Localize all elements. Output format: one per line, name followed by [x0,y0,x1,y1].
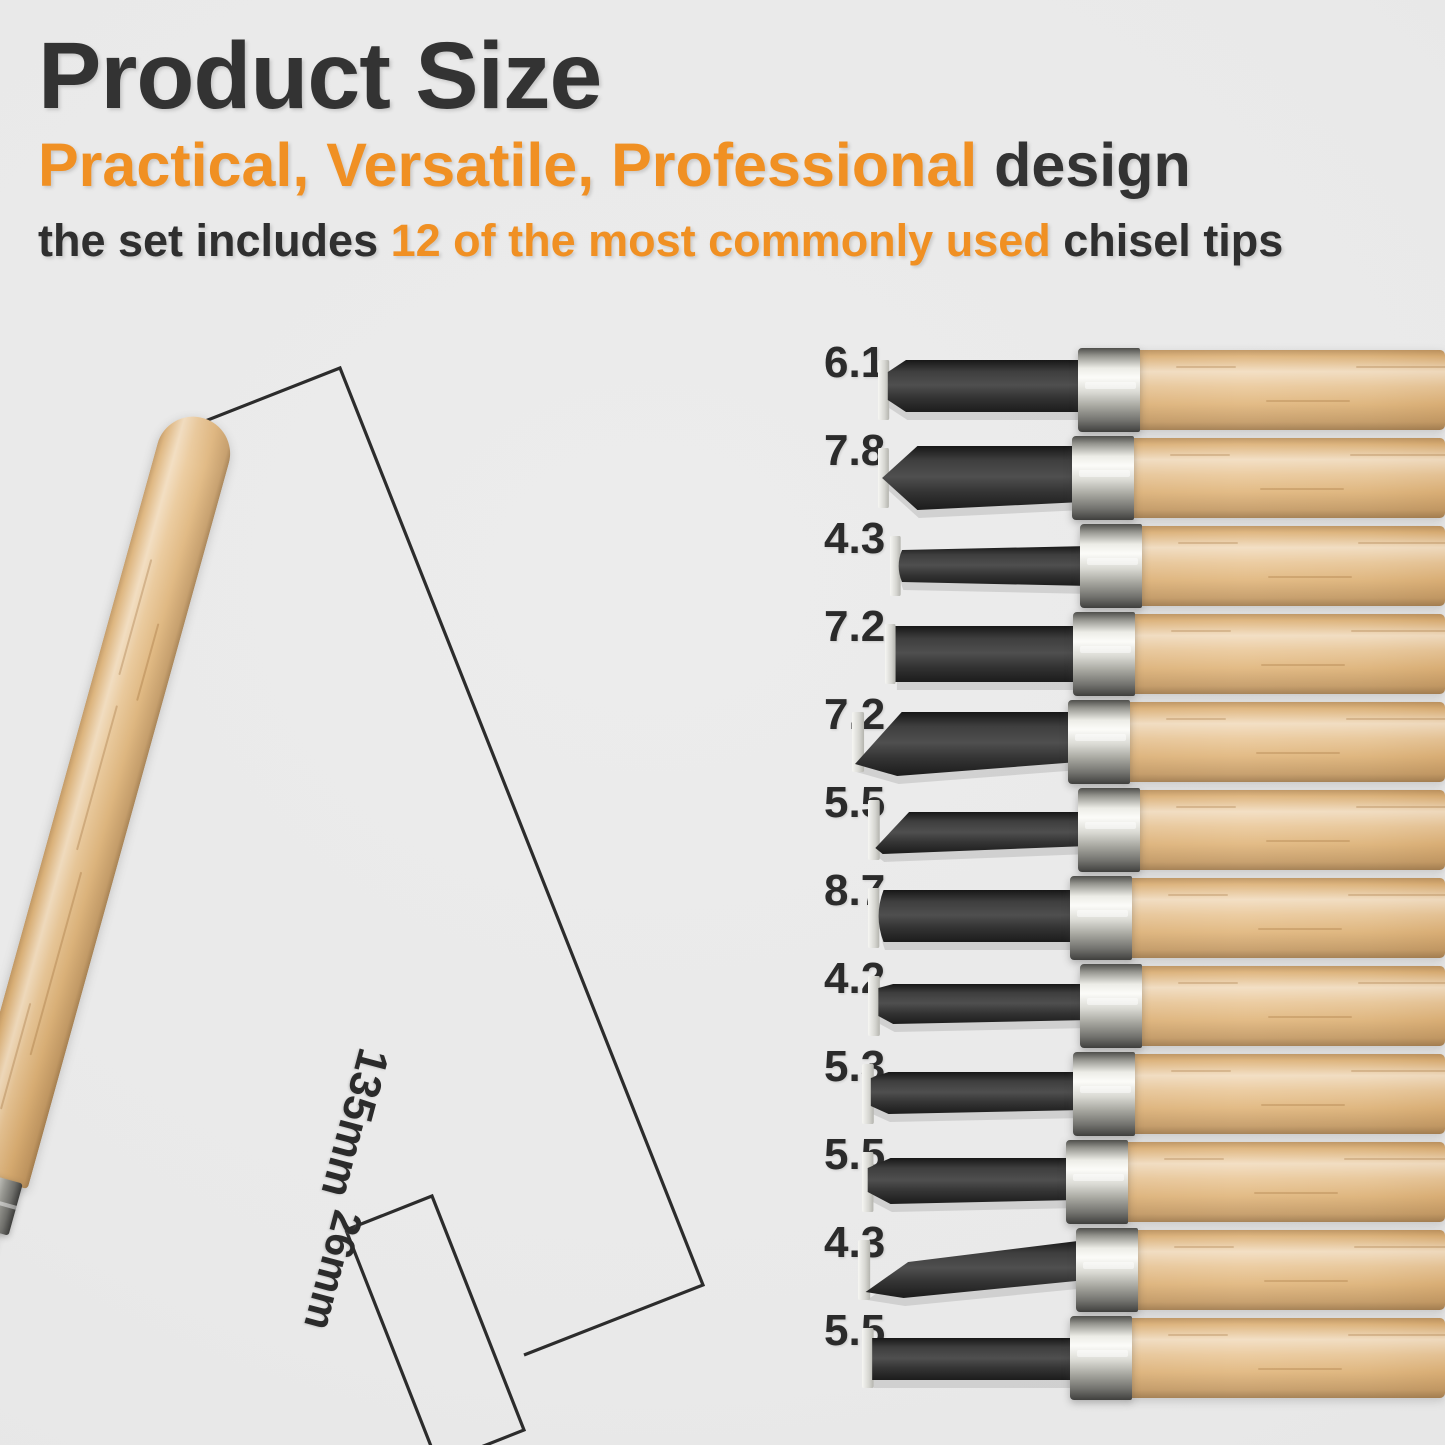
blade-body [878,984,1090,1024]
blade-cutting-edge [878,360,889,420]
blade-cutting-edge [868,800,880,860]
chisel-ferrule [1070,876,1132,960]
chisel-size-list: 6.17.84.37.27.25.58.74.25.35.54.35.5 [790,330,1445,1445]
chisel-row: 5.5 [790,1306,1445,1410]
chisel-handle [1130,438,1445,518]
tagline-highlight: 12 of the most commonly used [391,215,1051,266]
tagline-pre: the set includes [38,215,391,266]
blade-body [896,626,1083,682]
chisel-ferrule [1073,1052,1135,1136]
blade-body [872,1338,1080,1380]
dimension-diagram: 135mm 26mm [0,330,790,1445]
blade-cutting-edge [868,888,879,948]
chisel-ferrule [1070,1316,1132,1400]
chisel-ferrule [1080,964,1142,1048]
blade-body [871,1072,1083,1114]
blade-body [868,1158,1076,1204]
chisel-ferrule [1066,1140,1128,1224]
chisel-ferrule [1080,524,1142,608]
chisel-handle [1124,1142,1445,1222]
chisel-handle [1126,702,1445,782]
blade-body [888,360,1088,412]
chisel-ferrule [1076,1228,1138,1312]
chisel-ferrule [1068,700,1130,784]
chisel-handle [1131,1054,1445,1134]
chisel-handle [1134,1230,1445,1310]
blade-body [882,446,1082,510]
length-frame-outline [162,368,703,1355]
chisel-handle [1136,350,1445,430]
tip-width-frame-outline [346,1196,524,1445]
chisel-blade [862,1306,1080,1410]
chisel-handle [1128,1318,1445,1398]
header: Product Size Practical, Versatile, Profe… [38,28,1418,264]
chisel-handle [1138,526,1445,606]
blade-cutting-edge [862,1328,874,1388]
chisel-handle [1128,878,1445,958]
blade-body [899,546,1090,586]
blade-cutting-edge [885,624,896,684]
subtitle-highlight: Practical, Versatile, Professional [38,131,977,199]
chisel-ferrule [1072,436,1134,520]
tagline: the set includes 12 of the most commonly… [38,217,1418,264]
page-title: Product Size [38,28,1418,125]
dimension-frame [0,330,790,1445]
tagline-post: chisel tips [1051,215,1284,266]
chisel-handle [1136,790,1445,870]
chisel-ferrule [1078,348,1140,432]
chisel-handle [1138,966,1445,1046]
chisel-ferrule [1073,612,1135,696]
subtitle-rest: design [977,131,1191,199]
blade-body [879,890,1080,942]
subtitle: Practical, Versatile, Professional desig… [38,133,1418,197]
chisel-handle [1131,614,1445,694]
product-size-infographic: Product Size Practical, Versatile, Profe… [0,0,1445,1445]
chisel-ferrule [1078,788,1140,872]
blade-cutting-edge [868,976,880,1036]
